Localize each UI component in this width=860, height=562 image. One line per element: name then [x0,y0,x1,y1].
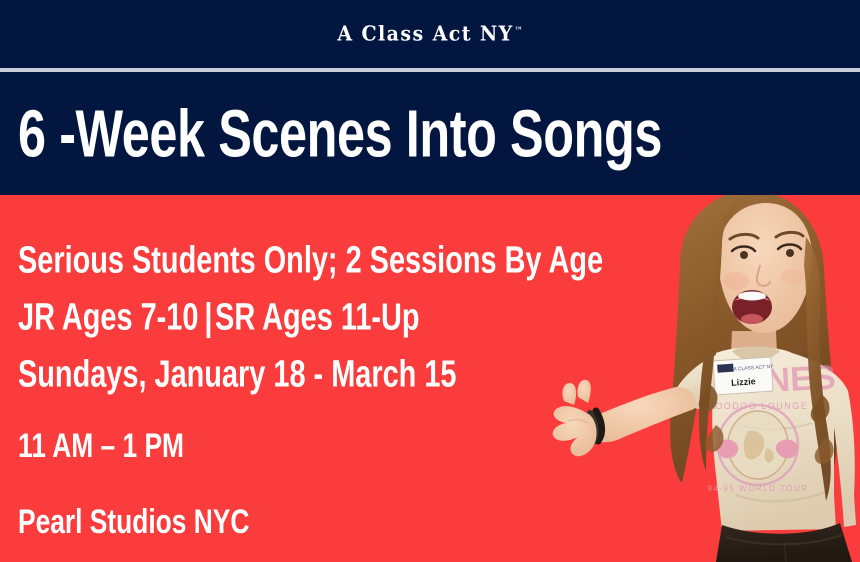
brand-logo-text: A Class Act NY [337,22,513,45]
divider-rule [0,68,860,72]
logo-row: A Class Act NY™ [0,0,860,68]
details-block: Serious Students Only; 2 Sessions By Age… [18,232,706,555]
promotional-flyer: ONES VOODOO LOUNGE 94-95 WORLD TOUR A CL… [0,0,860,562]
detail-line-ages: JR Ages 7-10|SR Ages 11-Up [18,286,603,350]
sr-ages-label: SR Ages 11-Up [215,296,420,339]
detail-line-venue: Pearl Studios NYC [18,485,603,559]
headline-row: 6 -Week Scenes Into Songs [0,72,860,195]
svg-text:VOODOO LOUNGE: VOODOO LOUNGE [708,401,809,411]
svg-text:Lizzie: Lizzie [731,376,756,388]
detail-line-time: 11 AM – 1 PM [18,398,603,494]
name-tag: A CLASS ACT NY Lizzie [713,357,775,395]
ages-separator: | [198,286,215,350]
jr-ages-label: JR Ages 7-10 [18,296,198,339]
detail-line-audience: Serious Students Only; 2 Sessions By Age [18,229,603,293]
svg-text:94-95 WORLD TOUR: 94-95 WORLD TOUR [707,484,808,493]
navy-header-panel: A Class Act NY™ 6 -Week Scenes Into Song… [0,0,860,195]
trademark-symbol: ™ [515,24,523,35]
brand-logo: A Class Act NY™ [337,22,522,45]
page-title: 6 -Week Scenes Into Songs [18,100,662,167]
